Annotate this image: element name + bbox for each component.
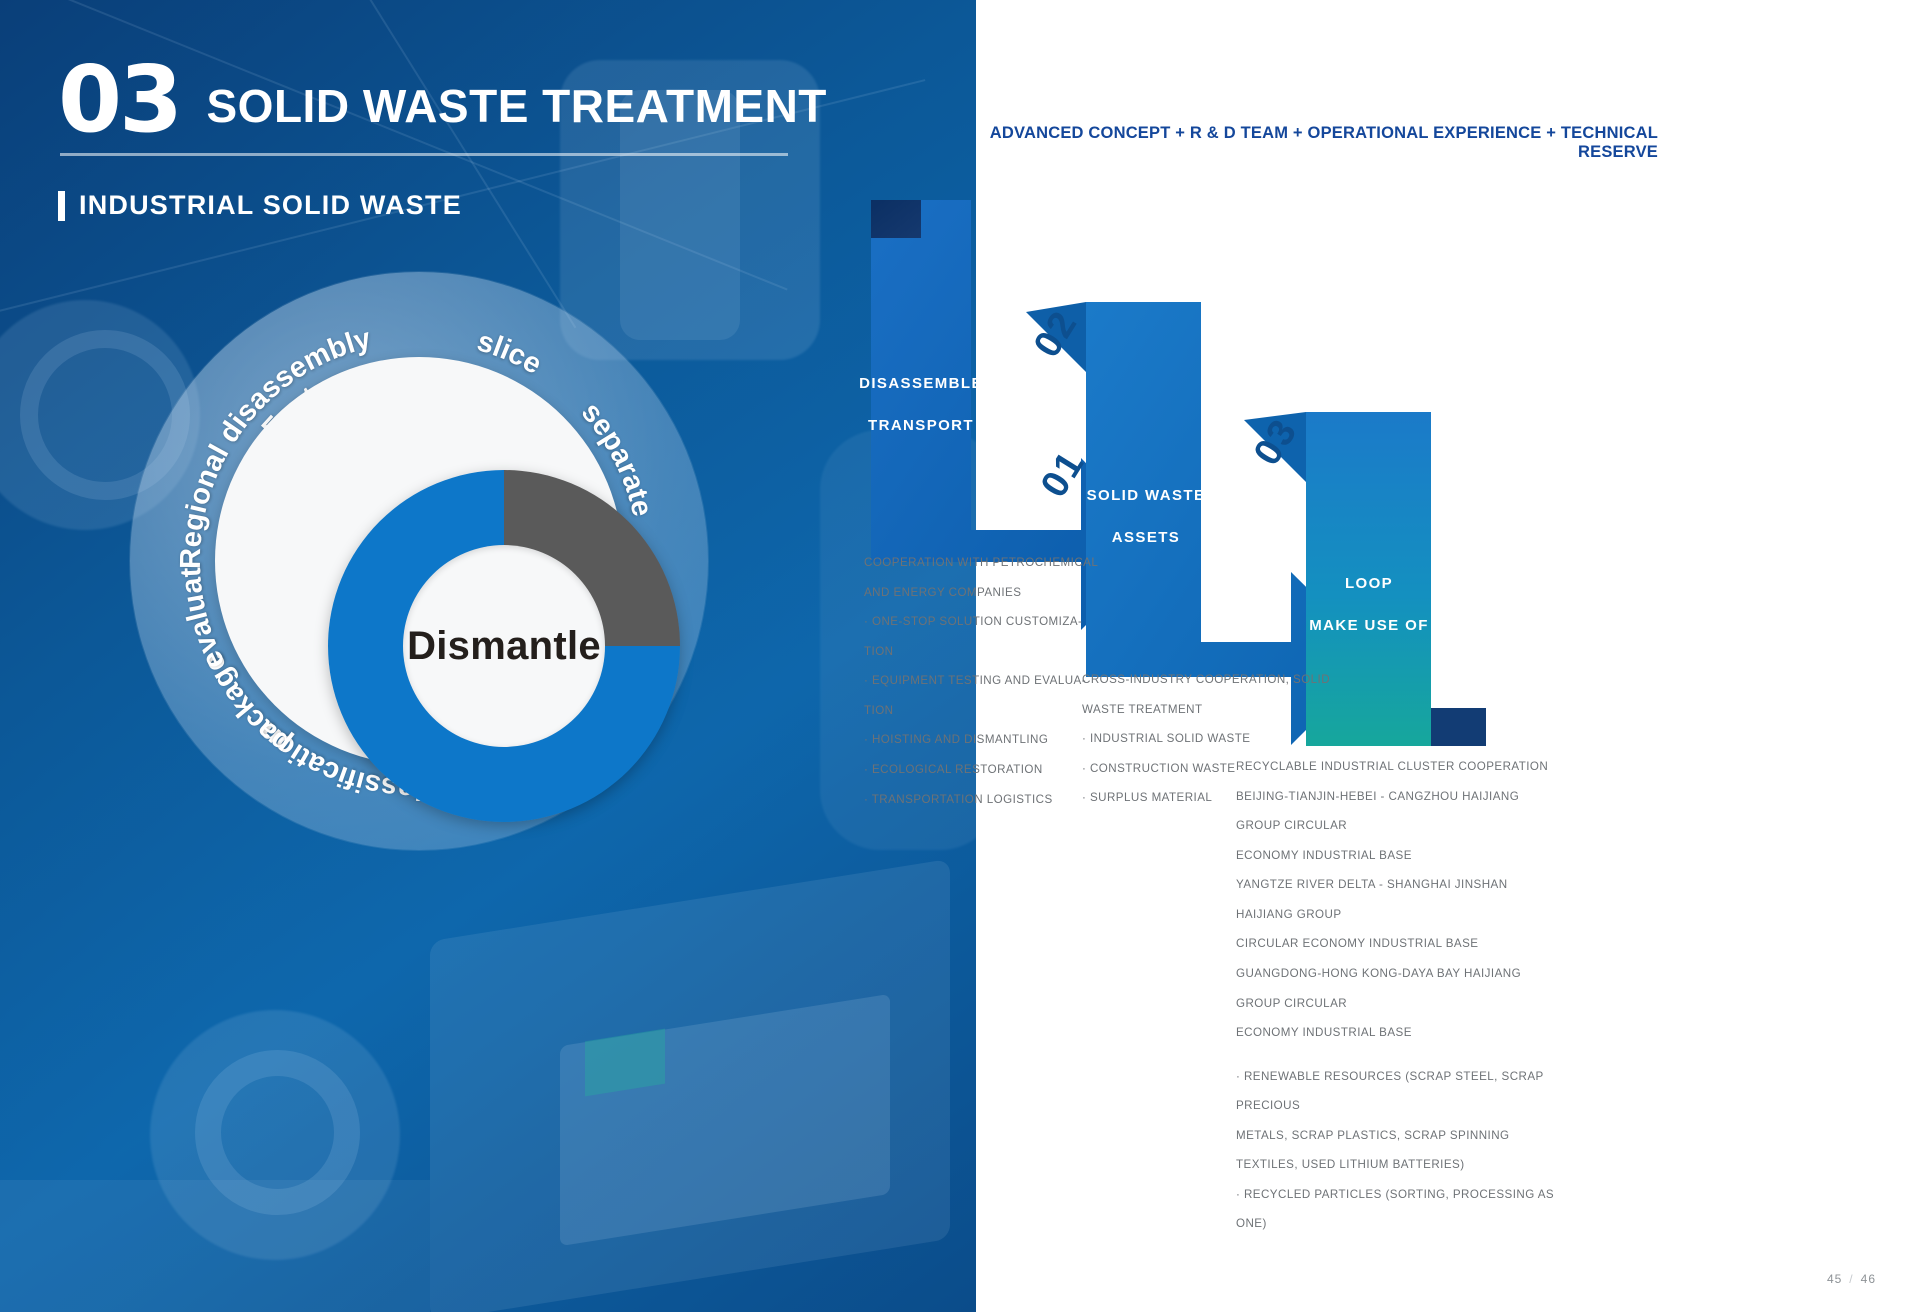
left-header: 03 SOLID WASTE TREATMENT: [58, 62, 827, 137]
text-line: METALS, SCRAP PLASTICS, SCRAP SPINNING: [1236, 1121, 1566, 1151]
right-header-tagline: ADVANCED CONCEPT + R & D TEAM + OPERATIO…: [958, 124, 1658, 162]
text-line: · RENEWABLE RESOURCES (SCRAP STEEL, SCRA…: [1236, 1062, 1566, 1121]
page-current: 45: [1827, 1272, 1842, 1286]
text-line: AND ENERGY COMPANIES: [864, 578, 1124, 608]
right-panel: ADVANCED CONCEPT + R & D TEAM + OPERATIO…: [976, 0, 1920, 1312]
ribbon-01-line2: TRANSPORT: [868, 417, 974, 434]
text-line: RECYCLABLE INDUSTRIAL CLUSTER COOPERATIO…: [1236, 752, 1566, 782]
donut-center-label: Dismantle: [407, 624, 601, 669]
text-line: ECONOMY INDUSTRIAL BASE: [1236, 1018, 1566, 1048]
slide-page: 03 SOLID WASTE TREATMENT INDUSTRIAL SOLI…: [0, 0, 1920, 1312]
text-line: CIRCULAR ECONOMY INDUSTRIAL BASE: [1236, 929, 1566, 959]
ribbon-03-line1: LOOP: [1345, 575, 1393, 592]
ribbon-03-line2: MAKE USE OF: [1309, 617, 1429, 634]
page-total: 46: [1861, 1272, 1876, 1286]
left-panel: 03 SOLID WASTE TREATMENT INDUSTRIAL SOLI…: [0, 0, 976, 1312]
ribbon-03-body: [1306, 412, 1486, 746]
text-line: BEIJING-TIANJIN-HEBEI - CANGZHOU HAIJIAN…: [1236, 782, 1566, 841]
subtitle-accent-bar: [58, 191, 65, 221]
ribbon-02-line1: SOLID WASTE: [1087, 487, 1206, 504]
text-line: ECONOMY INDUSTRIAL BASE: [1236, 841, 1566, 871]
subtitle-row: INDUSTRIAL SOLID WASTE: [58, 190, 462, 221]
page-subtitle: INDUSTRIAL SOLID WASTE: [79, 190, 462, 221]
page-title: SOLID WASTE TREATMENT: [184, 79, 826, 137]
text-line: GUANGDONG-HONG KONG-DAYA BAY HAIJIANG GR…: [1236, 959, 1566, 1018]
text-line: WASTE TREATMENT: [1082, 695, 1332, 725]
page-number: 45 / 46: [1827, 1272, 1876, 1286]
text-line: · INDUSTRIAL SOLID WASTE: [1082, 724, 1332, 754]
text-line: · ONE-STOP SOLUTION CUSTOMIZA-: [864, 607, 1124, 637]
donut-center: Dismantle: [403, 545, 605, 747]
text-line: YANGTZE RIVER DELTA - SHANGHAI JINSHAN H…: [1236, 870, 1566, 929]
title-underline: [60, 153, 788, 156]
text-line: · RECYCLED PARTICLES (SORTING, PROCESSIN…: [1236, 1180, 1566, 1239]
section-number: 03: [58, 62, 180, 137]
text-line: TION: [864, 637, 1124, 667]
donut-white-ring: Dismantle: [215, 357, 623, 765]
text-line: CROSS-INDUSTRY COOPERATION, SOLID: [1082, 665, 1332, 695]
ribbon-01-line1: DISASSEMBLE: [859, 375, 983, 392]
text-line: COOPERATION WITH PETROCHEMICAL: [864, 548, 1124, 578]
text-line: TEXTILES, USED LITHIUM BATTERIES): [1236, 1150, 1566, 1180]
process-donut-diagram: Regional disassembly Factory slice separ…: [130, 272, 708, 850]
donut-chart: Dismantle: [328, 470, 680, 822]
ribbon-03-fold: [1431, 708, 1486, 746]
page-separator: /: [1849, 1272, 1853, 1286]
ribbon-01-fold: [871, 200, 921, 238]
bg-rect: [0, 1180, 430, 1312]
ribbon-02-line2: ASSETS: [1112, 529, 1180, 546]
text-block-3: RECYCLABLE INDUSTRIAL CLUSTER COOPERATIO…: [1236, 752, 1566, 1239]
text-line: [1236, 1048, 1566, 1062]
